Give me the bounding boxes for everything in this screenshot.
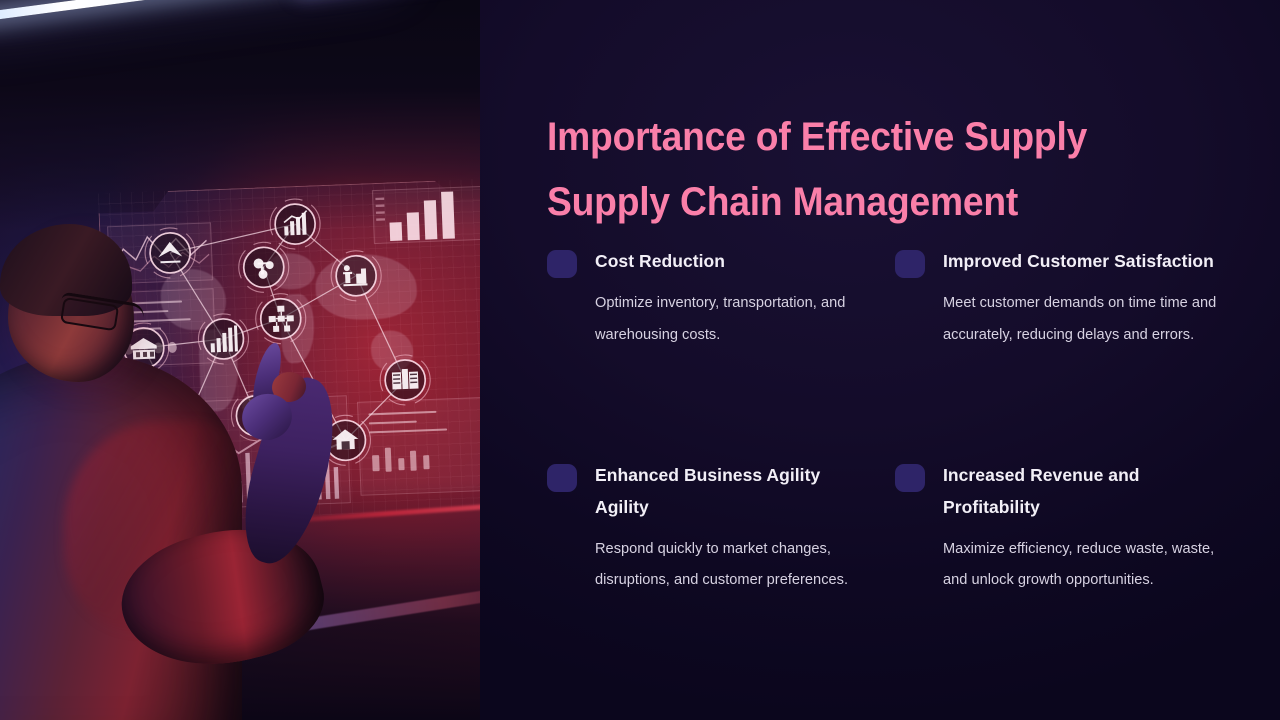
card-body: Maximize efficiency, reduce waste, waste… [943,534,1237,597]
card-title: Enhanced Business Agility Agility [595,460,867,524]
card-body: Optimize inventory, transportation, and … [595,288,875,351]
hero-photo [0,0,480,720]
benefit-card-enhanced-business-agility[interactable]: Enhanced Business Agility Agility Respon… [547,460,889,674]
card-header: Increased Revenue and Profitability [895,460,1237,524]
bullet-square-icon [895,250,925,278]
card-header: Cost Reduction [547,246,889,278]
card-title: Increased Revenue and Profitability [943,460,1215,524]
content-panel: Importance of Effective Supply Supply Ch… [480,0,1280,720]
card-body: Respond quickly to market changes, disru… [595,534,875,597]
bullet-square-icon [895,464,925,492]
page-title-line-1: Importance of Effective Supply [547,105,1179,170]
node-factory-worker [330,250,382,302]
benefit-card-cost-reduction[interactable]: Cost Reduction Optimize inventory, trans… [547,246,889,460]
page-title-line-2: Supply Chain Management [547,170,1179,235]
card-title: Cost Reduction [595,246,725,278]
card-header: Improved Customer Satisfaction [895,246,1237,278]
slide: Importance of Effective Supply Supply Ch… [0,0,1280,720]
bullet-square-icon [547,250,577,278]
person-hand [232,348,308,458]
page-title: Importance of Effective Supply Supply Ch… [547,105,1179,235]
benefit-card-grid: Cost Reduction Optimize inventory, trans… [547,246,1237,674]
card-header: Enhanced Business Agility Agility [547,460,889,524]
card-title: Improved Customer Satisfaction [943,246,1214,278]
person-silhouette [0,236,284,720]
bullet-square-icon [547,464,577,492]
benefit-card-improved-customer-satisfaction[interactable]: Improved Customer Satisfaction Meet cust… [895,246,1237,460]
card-body: Meet customer demands on time time and a… [943,288,1237,351]
benefit-card-increased-revenue-profitability[interactable]: Increased Revenue and Profitability Maxi… [895,460,1237,674]
